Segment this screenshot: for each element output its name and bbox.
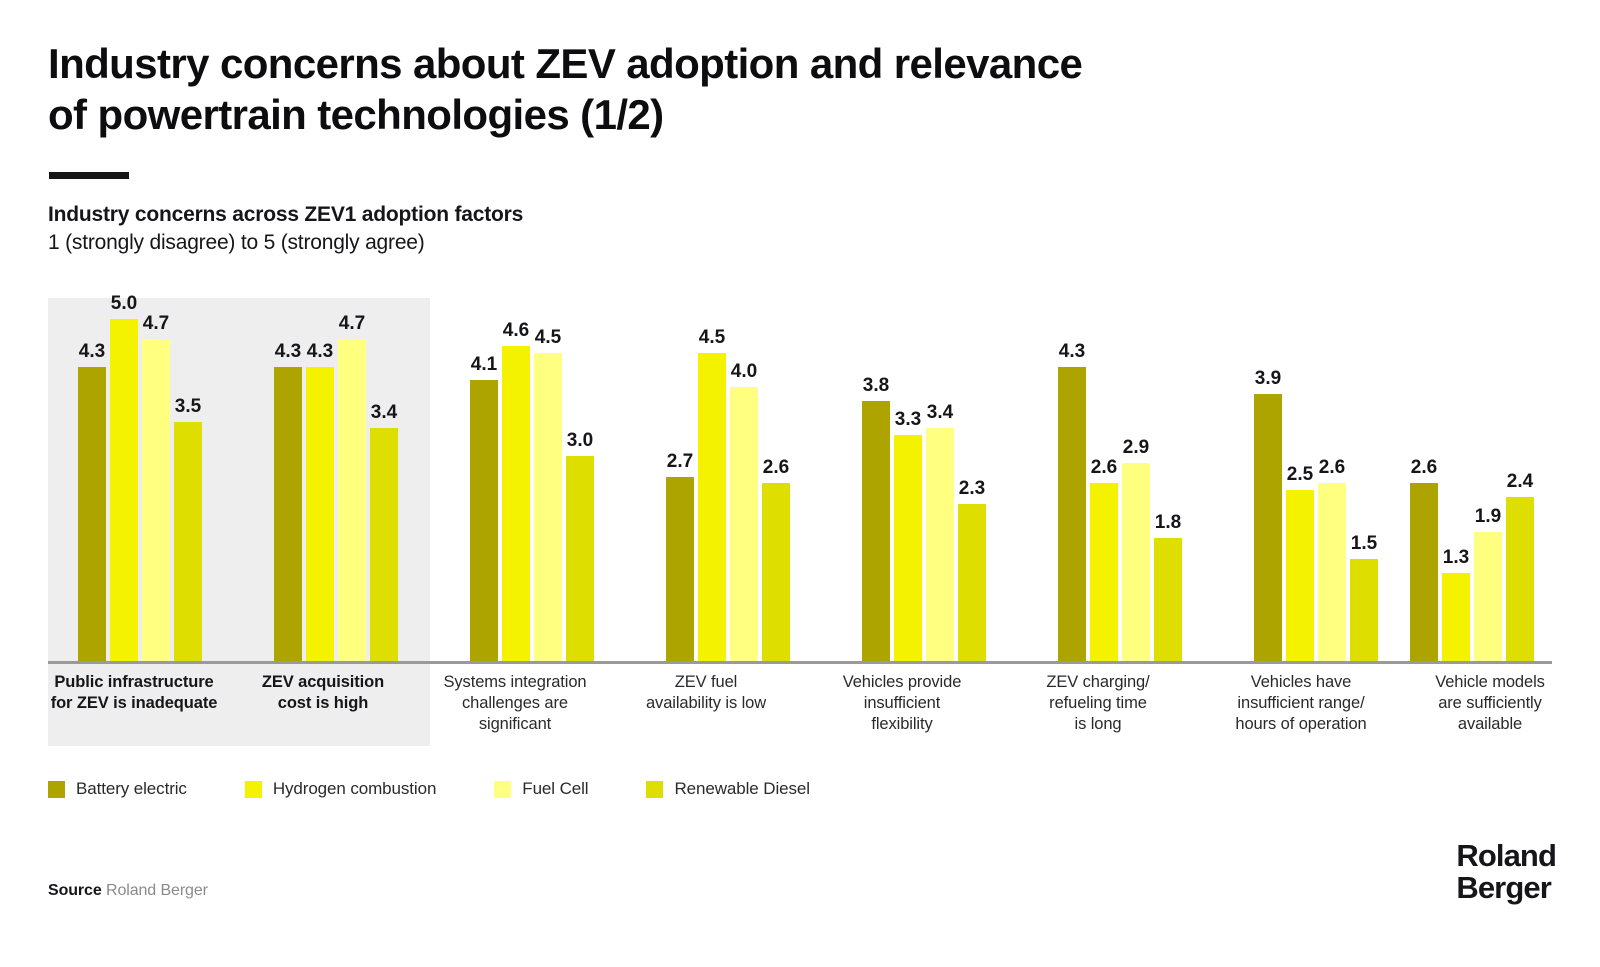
bar[interactable] <box>110 319 138 662</box>
bar[interactable] <box>1442 573 1470 662</box>
legend-swatch-icon <box>48 781 65 798</box>
x-axis-label: Public infrastructure for ZEV is inadequ… <box>36 672 232 714</box>
bar-column[interactable]: 3.4 <box>926 298 954 662</box>
bar-value-label: 3.8 <box>863 375 889 397</box>
bar[interactable] <box>1058 367 1086 662</box>
bar-column[interactable]: 1.8 <box>1154 298 1182 662</box>
bar-value-label: 4.3 <box>1059 341 1085 363</box>
bar[interactable] <box>306 367 334 662</box>
legend-swatch-icon <box>646 781 663 798</box>
bar-column[interactable]: 4.3 <box>306 298 334 662</box>
plot-area: 4.35.04.73.54.34.34.73.44.14.64.53.02.74… <box>48 298 1552 662</box>
bar-column[interactable]: 4.0 <box>730 298 758 662</box>
bar-value-label: 4.6 <box>503 320 529 342</box>
bar-column[interactable]: 2.6 <box>1318 298 1346 662</box>
bar-value-label: 1.8 <box>1155 512 1181 534</box>
bar-column[interactable]: 4.6 <box>502 298 530 662</box>
legend-label: Hydrogen combustion <box>273 779 436 799</box>
bar[interactable] <box>894 435 922 662</box>
bar[interactable] <box>78 367 106 662</box>
bar-value-label: 2.5 <box>1287 464 1313 486</box>
bar[interactable] <box>762 483 790 662</box>
bar[interactable] <box>370 428 398 662</box>
legend-item[interactable]: Battery electric <box>48 779 187 799</box>
bar[interactable] <box>1122 463 1150 662</box>
bar-column[interactable]: 4.1 <box>470 298 498 662</box>
bar-column[interactable]: 4.7 <box>338 298 366 662</box>
bar-column[interactable]: 4.5 <box>698 298 726 662</box>
bar-value-label: 3.3 <box>895 409 921 431</box>
bar-value-label: 2.6 <box>763 457 789 479</box>
chart-subtitle-primary: Industry concerns across ZEV1 adoption f… <box>48 203 523 227</box>
legend-swatch-icon <box>494 781 511 798</box>
legend-item[interactable]: Renewable Diesel <box>646 779 809 799</box>
chart-subtitle-secondary: 1 (strongly disagree) to 5 (strongly agr… <box>48 231 425 255</box>
source-label: Source <box>48 882 102 899</box>
bar-value-label: 2.6 <box>1411 457 1437 479</box>
bar-column[interactable]: 2.9 <box>1122 298 1150 662</box>
bar-value-label: 2.7 <box>667 451 693 473</box>
x-axis-label: Vehicles provide insufficient flexibilit… <box>812 672 992 735</box>
bar-group-bars: 3.83.33.42.3 <box>862 298 986 662</box>
bar-column[interactable]: 2.4 <box>1506 298 1534 662</box>
x-axis-label: Vehicles have insufficient range/ hours … <box>1196 672 1406 735</box>
bar[interactable] <box>1154 538 1182 662</box>
bar-column[interactable]: 2.6 <box>762 298 790 662</box>
x-axis-label: Systems integration challenges are signi… <box>420 672 610 735</box>
roland-berger-logo: Roland Berger <box>1456 840 1556 903</box>
bar-column[interactable]: 3.3 <box>894 298 922 662</box>
bar-column[interactable]: 2.6 <box>1410 298 1438 662</box>
bar-column[interactable]: 4.3 <box>274 298 302 662</box>
bar[interactable] <box>502 346 530 662</box>
bar-value-label: 2.3 <box>959 478 985 500</box>
bar-group: 2.74.54.02.6 <box>666 298 802 662</box>
bar-value-label: 4.3 <box>307 341 333 363</box>
bar-column[interactable]: 4.5 <box>534 298 562 662</box>
bar-column[interactable]: 2.3 <box>958 298 986 662</box>
bar[interactable] <box>730 387 758 662</box>
bar-column[interactable]: 3.0 <box>566 298 594 662</box>
legend-label: Renewable Diesel <box>674 779 809 799</box>
bar-value-label: 4.7 <box>143 313 169 335</box>
bar-column[interactable]: 1.5 <box>1350 298 1378 662</box>
bar-column[interactable]: 5.0 <box>110 298 138 662</box>
bar-group: 2.61.31.92.4 <box>1410 298 1546 662</box>
page-title: Industry concerns about ZEV adoption and… <box>48 38 1348 140</box>
bar[interactable] <box>926 428 954 662</box>
legend-item[interactable]: Hydrogen combustion <box>245 779 436 799</box>
bar-column[interactable]: 2.6 <box>1090 298 1118 662</box>
bar-value-label: 3.9 <box>1255 368 1281 390</box>
bar-group-bars: 4.14.64.53.0 <box>470 298 594 662</box>
bar[interactable] <box>566 456 594 662</box>
bar[interactable] <box>338 339 366 662</box>
bar-group-bars: 4.35.04.73.5 <box>78 298 202 662</box>
bar-column[interactable]: 3.8 <box>862 298 890 662</box>
source-note: Source Roland Berger <box>48 882 208 900</box>
bar-column[interactable]: 3.9 <box>1254 298 1282 662</box>
bar-value-label: 1.9 <box>1475 506 1501 528</box>
x-axis-line <box>48 661 1552 664</box>
bar-value-label: 4.3 <box>275 341 301 363</box>
bar-value-label: 4.5 <box>535 327 561 349</box>
legend-label: Battery electric <box>76 779 187 799</box>
bar-chart: 4.35.04.73.54.34.34.73.44.14.64.53.02.74… <box>48 298 1552 746</box>
bar-value-label: 4.1 <box>471 354 497 376</box>
bar-value-label: 1.3 <box>1443 547 1469 569</box>
legend-swatch-icon <box>245 781 262 798</box>
x-axis-label: ZEV charging/ refueling time is long <box>1008 672 1188 735</box>
bar-value-label: 2.6 <box>1319 457 1345 479</box>
bar[interactable] <box>1474 532 1502 662</box>
bar[interactable] <box>1506 497 1534 662</box>
source-value: Roland Berger <box>102 882 208 899</box>
bar[interactable] <box>1318 483 1346 662</box>
x-axis-label: ZEV fuel availability is low <box>616 672 796 714</box>
title-underline-rule <box>49 172 129 179</box>
bar-value-label: 3.4 <box>371 402 397 424</box>
x-axis-label: Vehicle models are sufficiently availabl… <box>1400 672 1580 735</box>
bar-group-bars: 2.61.31.92.4 <box>1410 298 1534 662</box>
bar[interactable] <box>1410 483 1438 662</box>
bar[interactable] <box>1254 394 1282 662</box>
bar[interactable] <box>1090 483 1118 662</box>
bar-value-label: 2.6 <box>1091 457 1117 479</box>
legend-item[interactable]: Fuel Cell <box>494 779 588 799</box>
bar-column[interactable]: 4.3 <box>1058 298 1086 662</box>
bar-group-bars: 2.74.54.02.6 <box>666 298 790 662</box>
bar-group: 4.35.04.73.5 <box>78 298 214 662</box>
bar-value-label: 2.9 <box>1123 437 1149 459</box>
bar-value-label: 3.0 <box>567 430 593 452</box>
bar-value-label: 4.5 <box>699 327 725 349</box>
bar-value-label: 5.0 <box>111 293 137 315</box>
bar-column[interactable]: 3.5 <box>174 298 202 662</box>
bar-column[interactable]: 1.9 <box>1474 298 1502 662</box>
bar-value-label: 2.4 <box>1507 471 1533 493</box>
bar[interactable] <box>534 353 562 662</box>
bar-group-bars: 3.92.52.61.5 <box>1254 298 1378 662</box>
bar-group: 3.92.52.61.5 <box>1254 298 1390 662</box>
bar[interactable] <box>666 477 694 662</box>
bar[interactable] <box>174 422 202 662</box>
bar-group: 4.32.62.91.8 <box>1058 298 1194 662</box>
x-axis-label: ZEV acquisition cost is high <box>238 672 408 714</box>
bar-group-bars: 4.34.34.73.4 <box>274 298 398 662</box>
bar[interactable] <box>1286 490 1314 662</box>
bar-value-label: 3.5 <box>175 396 201 418</box>
bar-group: 3.83.33.42.3 <box>862 298 998 662</box>
bar-value-label: 4.7 <box>339 313 365 335</box>
bar-value-label: 3.4 <box>927 402 953 424</box>
bar[interactable] <box>274 367 302 662</box>
bar[interactable] <box>862 401 890 662</box>
bar-group: 4.34.34.73.4 <box>274 298 410 662</box>
bar-column[interactable]: 4.7 <box>142 298 170 662</box>
bar[interactable] <box>958 504 986 662</box>
bar-column[interactable]: 4.3 <box>78 298 106 662</box>
bar-value-label: 4.3 <box>79 341 105 363</box>
bar-column[interactable]: 1.3 <box>1442 298 1470 662</box>
bar[interactable] <box>1350 559 1378 662</box>
bar-column[interactable]: 3.4 <box>370 298 398 662</box>
chart-legend: Battery electricHydrogen combustionFuel … <box>48 779 868 799</box>
bar[interactable] <box>698 353 726 662</box>
bar-column[interactable]: 2.5 <box>1286 298 1314 662</box>
bar-value-label: 1.5 <box>1351 533 1377 555</box>
bar-value-label: 4.0 <box>731 361 757 383</box>
bar-column[interactable]: 2.7 <box>666 298 694 662</box>
bar-group-bars: 4.32.62.91.8 <box>1058 298 1182 662</box>
bar[interactable] <box>142 339 170 662</box>
bar-group: 4.14.64.53.0 <box>470 298 606 662</box>
bar[interactable] <box>470 380 498 662</box>
legend-label: Fuel Cell <box>522 779 588 799</box>
